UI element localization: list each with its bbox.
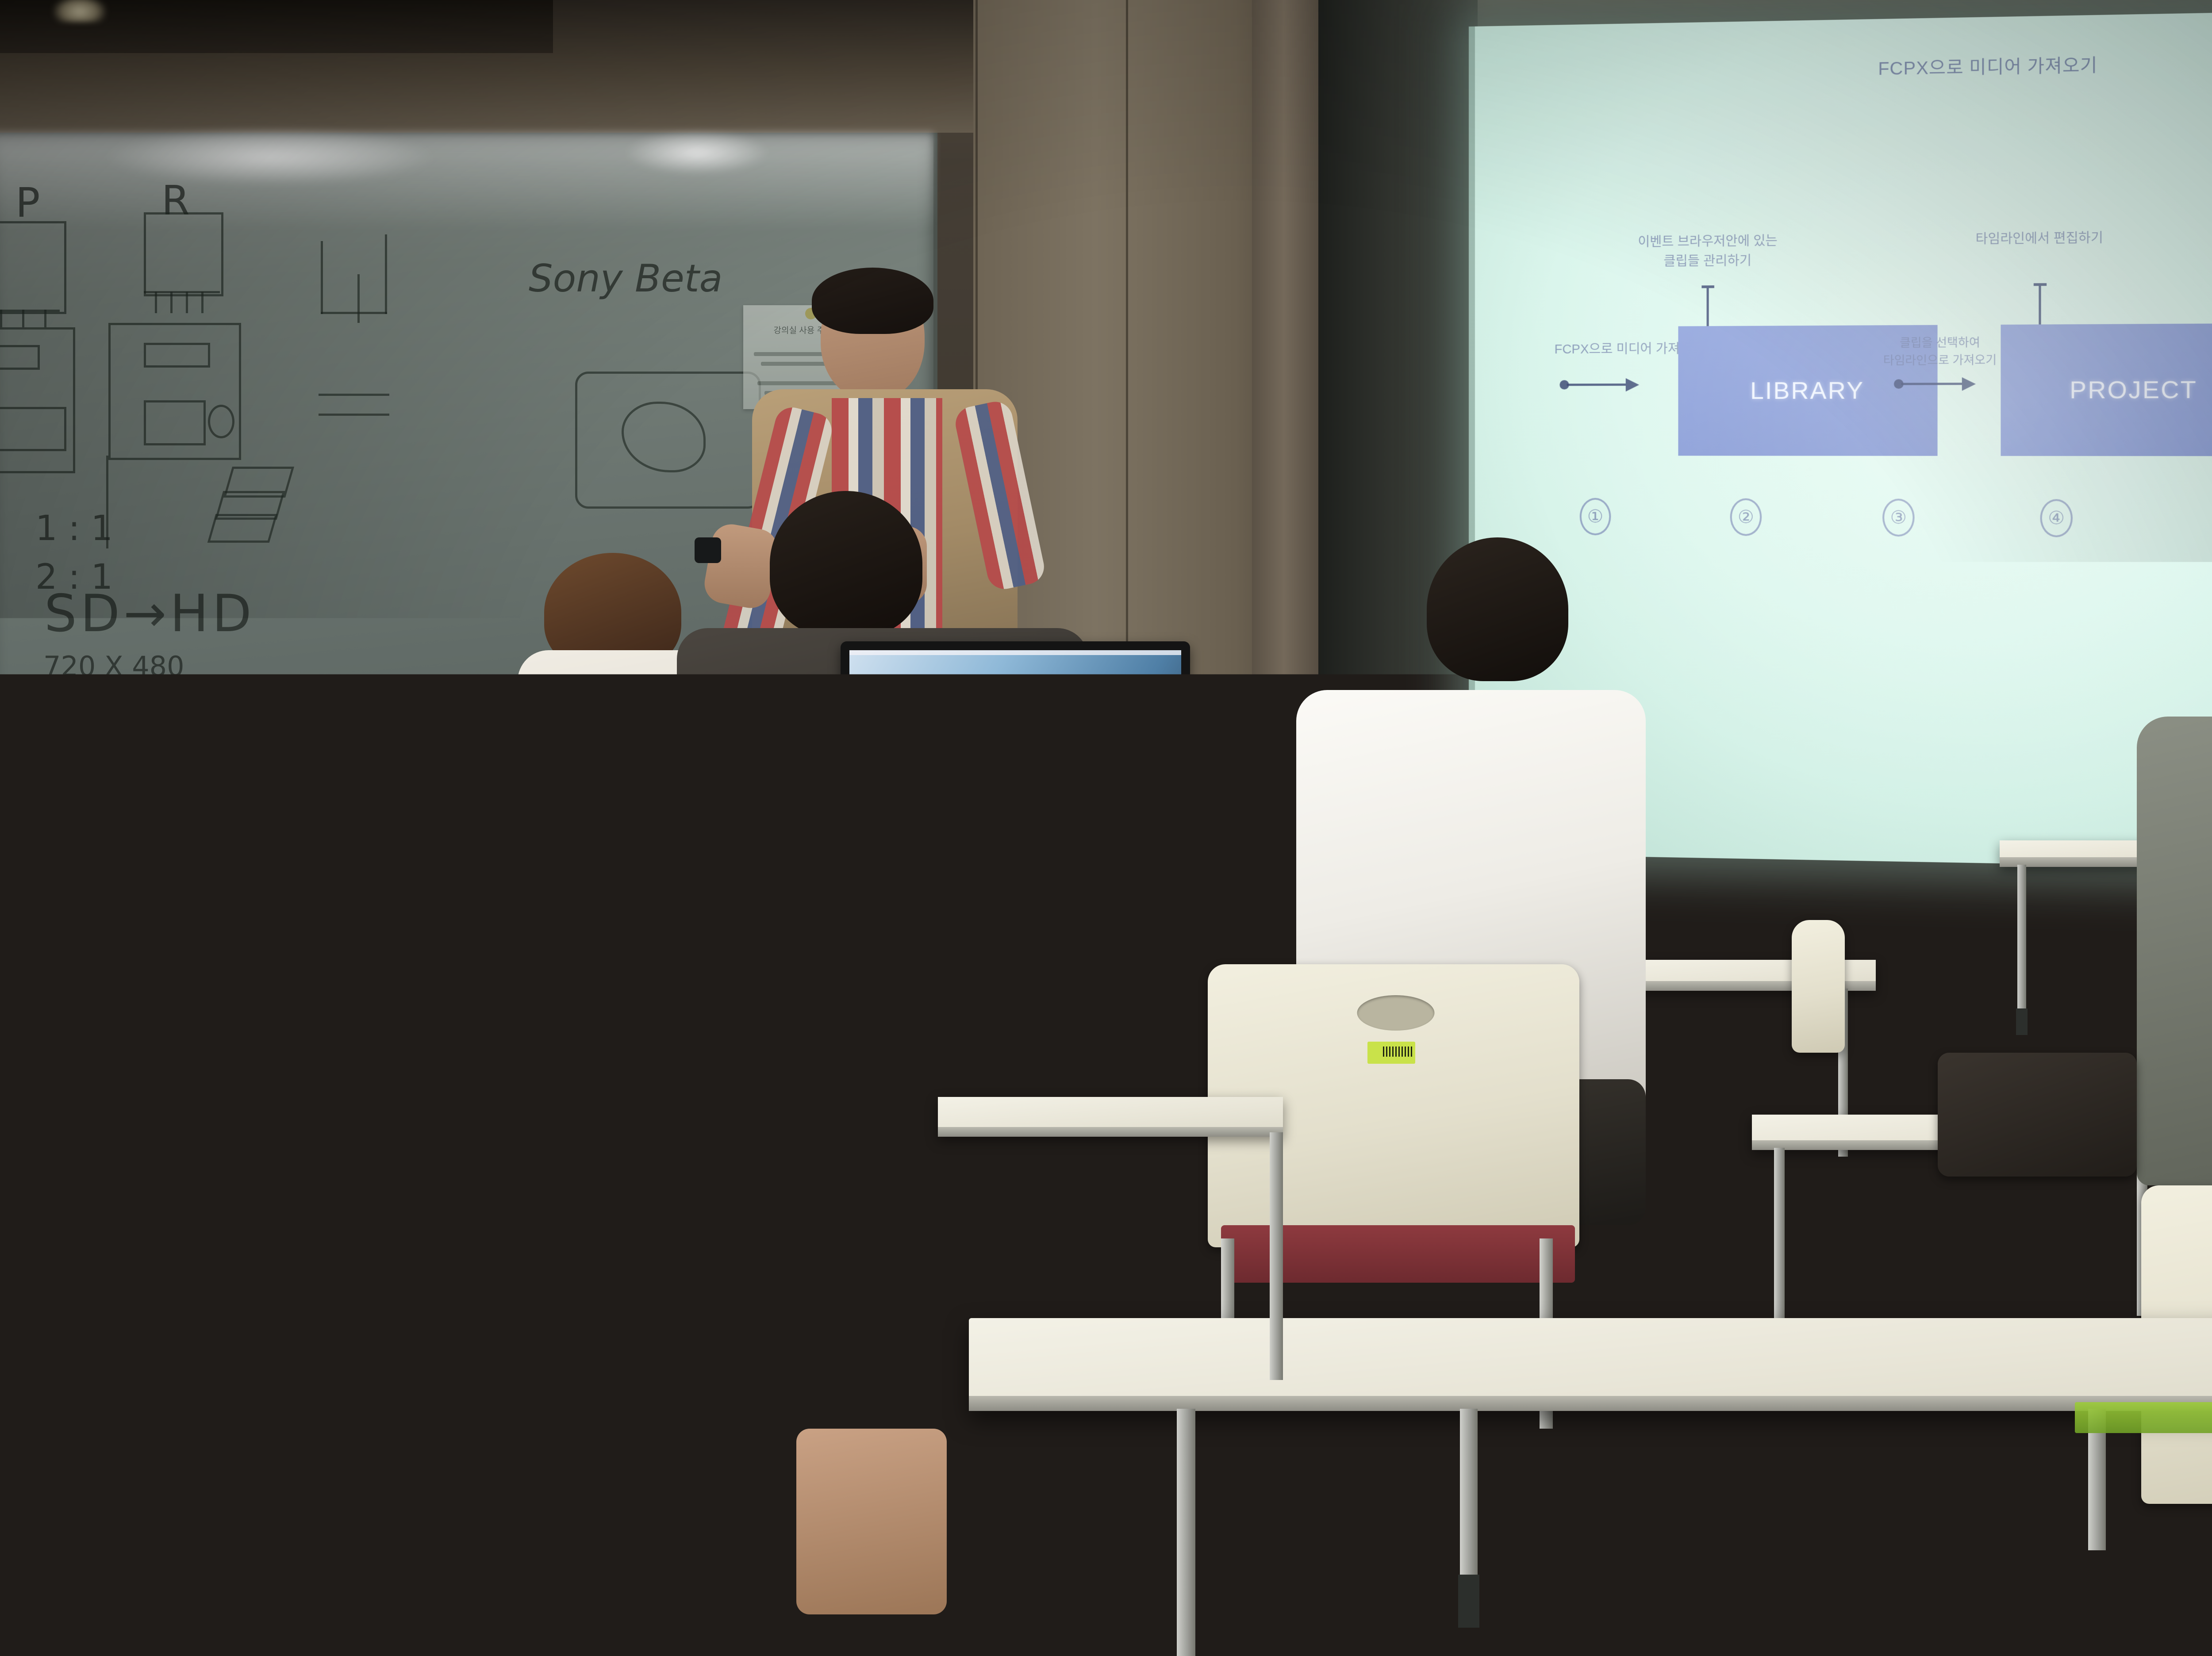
whiteboard-sketch-tape [207,514,278,543]
whiteboard-brand-text: Sony Beta [529,257,722,301]
chair-handle-cutout [984,986,1037,1014]
whiteboard-conversion-text: SD→HD [44,584,255,644]
macbook-base [836,869,1194,887]
whiteboard-sketch-line [321,241,323,314]
whiteboard-sketch-box [0,345,40,370]
instructor-hair [812,268,933,334]
whiteboard-sketch-line [385,234,387,314]
whiteboard-sketch-line [0,310,60,312]
desk-leg [2017,865,2026,1015]
chair-asset-tag [1367,1042,1415,1064]
wall-seam [1126,0,1128,1168]
desk-leg [1270,1132,1283,1380]
desk-foreground-right [969,1318,2212,1411]
chair-asset-tag [117,1199,166,1221]
desk-mid-foreground [938,1097,1283,1137]
desk-leg [18,1334,35,1608]
table-edge-accent [2075,1402,2212,1433]
desktop-wallpaper [849,650,1181,862]
whiteboard-sketch-line [201,292,204,313]
whiteboard-sketch-box [0,407,66,451]
whiteboard-sketch-circle [208,405,234,438]
whiteboard-sketch-line [0,310,2,327]
whiteboard-sketch-line [155,292,157,313]
chair-asset-tag [722,1212,774,1236]
monitor-screen [182,726,548,990]
whiteboard-glare-spot [102,128,438,186]
student-leg [796,1429,947,1614]
student-5-hair [1427,537,1568,681]
whiteboard-sketch-line [186,292,188,313]
cable-bundle [1168,911,1270,942]
whiteboard-sketch-line [170,292,173,313]
backpack[interactable] [1938,1053,2137,1177]
whiteboard-sketch-line [319,394,389,396]
desk-leg [1177,1409,1195,1656]
student-4-hair [770,491,922,637]
desk-foot [2016,1008,2028,1035]
chair-handle-cutout [1357,995,1435,1031]
desk-foreground-left [0,1256,495,1336]
whiteboard-marker-held[interactable] [695,537,721,563]
whiteboard-sketch-box [144,400,206,445]
desktop-monitor[interactable] [173,717,557,1000]
ceiling-lamp [53,0,106,22]
macbook-screen [849,650,1181,862]
whiteboard-glare-spot [624,130,770,175]
whiteboard-sketch-box [144,343,210,368]
whiteboard-sketch-box [144,212,223,296]
chair-handle-cutout [150,1150,230,1188]
chair-handle-cutout [701,1159,794,1201]
desktop-wallpaper [182,726,548,990]
mac-menu-bar[interactable] [849,650,1181,655]
sandal [1540,1473,1672,1539]
student-6-top [2137,717,2212,1185]
desk-leg [1774,1148,1785,1325]
whiteboard-sketch-line [357,274,360,323]
student-shoe [133,1517,234,1597]
marker-red[interactable] [62,679,119,686]
macbook-display[interactable] [841,641,1190,871]
mac-menu-bar[interactable] [182,726,548,731]
sandal [1340,1451,1491,1522]
whiteboard-sketch-line [22,310,24,327]
desk-foot [1458,1575,1479,1628]
whiteboard-sketch-box [0,221,66,314]
whiteboard-sketch-line [319,414,389,416]
whiteboard-sketch-line [44,310,46,327]
chair-asset-tag [995,1031,1031,1048]
marker-black[interactable] [310,679,367,686]
desk-leg [460,1334,477,1555]
whiteboard-ratio-a: 1 : 1 [35,509,113,548]
whiteboard-sketch-line [321,312,387,314]
whiteboard-label-p: P [15,179,40,226]
classroom-scene: P R 1 : 1 2 : 1 [0,0,2212,1656]
